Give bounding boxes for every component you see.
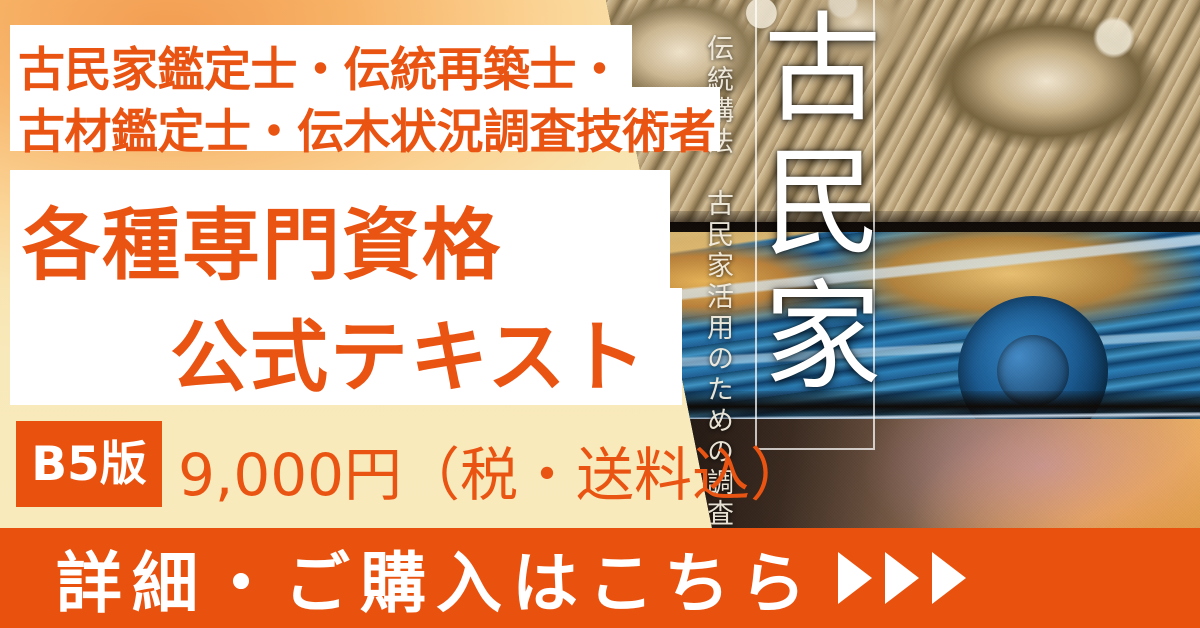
format-badge-label: B5版: [31, 441, 147, 488]
headline-line-1: 古民家鑑定士・伝統再築士・: [18, 31, 623, 100]
price-text: 9,000円（税・送料込）: [178, 428, 808, 512]
promo-banner: 古民家 伝統構法 古民家活用のための調査と再生の 古民家鑑定士・伝統再築士・ 古…: [0, 0, 1200, 628]
cta-bar[interactable]: 詳細・ご購入はこちら: [0, 528, 1200, 628]
main-title-line-1: 各種専門資格: [22, 183, 502, 295]
triangle-right-icon-3: [932, 552, 966, 604]
headline-line-2: 古材鑑定士・伝木状況調査技術者: [18, 93, 716, 162]
triangle-right-icon-1: [838, 552, 872, 604]
triangle-right-icon-2: [885, 552, 919, 604]
cta-label: 詳細・ご購入はこちら: [56, 530, 816, 626]
cover-title-text: 古民家: [762, 6, 870, 426]
main-title-line-2: 公式テキスト: [170, 295, 648, 407]
cta-arrow-group: [838, 552, 966, 604]
format-badge: B5版: [16, 421, 162, 507]
